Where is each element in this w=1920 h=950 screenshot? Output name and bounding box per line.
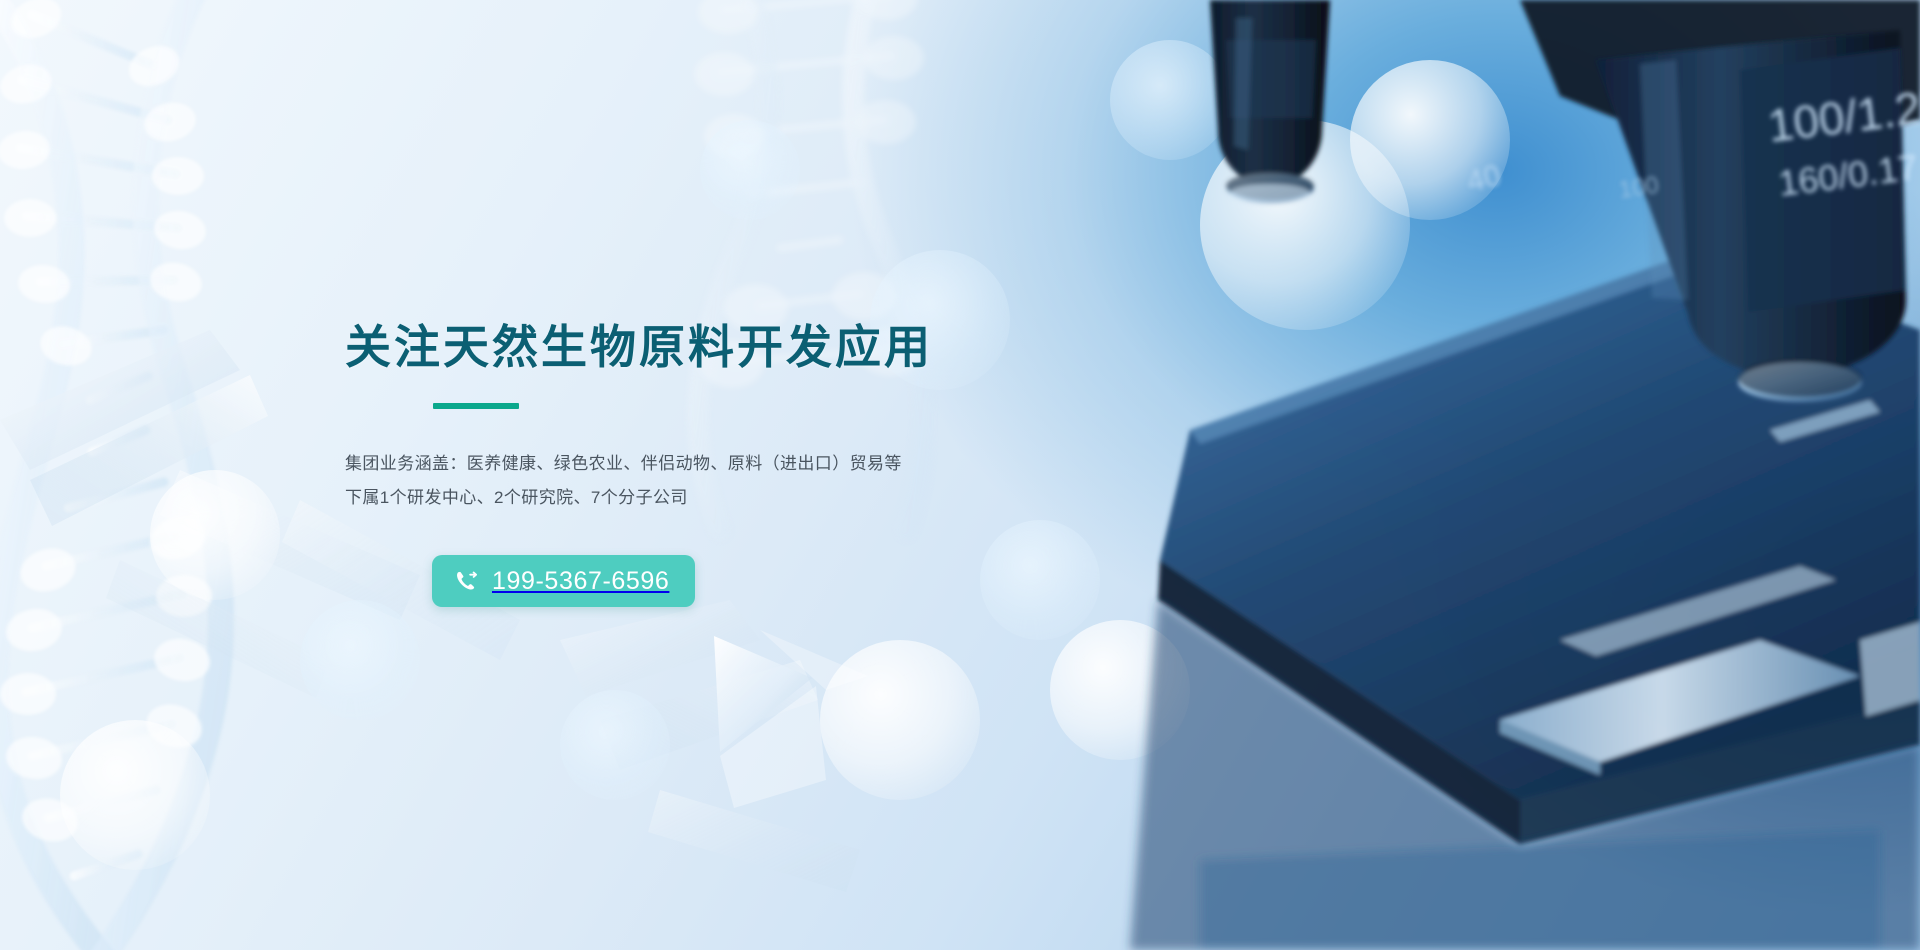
phone-row: 199-5367-6596 xyxy=(432,555,1105,607)
phone-forward-icon xyxy=(454,568,480,594)
phone-call-button[interactable]: 199-5367-6596 xyxy=(432,555,695,607)
hero-banner: 100/1.25 160/0.17 40 100 关注天然生物原料开发应用 集团… xyxy=(0,0,1920,950)
page-title: 关注天然生物原料开发应用 xyxy=(345,320,1105,375)
phone-number-label: 199-5367-6596 xyxy=(492,569,669,594)
hero-content: 关注天然生物原料开发应用 集团业务涵盖：医养健康、绿色农业、伴侣动物、原料（进出… xyxy=(345,320,1105,607)
hero-description: 集团业务涵盖：医养健康、绿色农业、伴侣动物、原料（进出口）贸易等 下属1个研发中… xyxy=(345,447,1105,515)
hero-description-line-1: 集团业务涵盖：医养健康、绿色农业、伴侣动物、原料（进出口）贸易等 xyxy=(345,447,1105,481)
title-divider xyxy=(433,403,519,409)
hero-description-line-2: 下属1个研发中心、2个研究院、7个分子公司 xyxy=(345,481,1105,515)
